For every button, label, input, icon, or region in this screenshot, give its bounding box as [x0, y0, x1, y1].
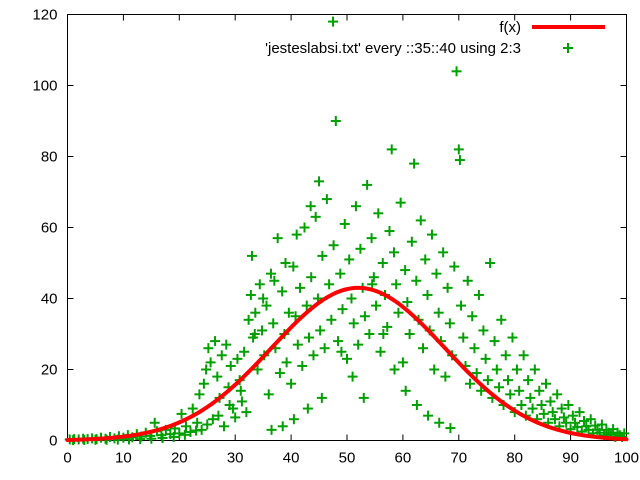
x-tick-label: 30: [227, 450, 244, 467]
chart-background: [0, 0, 640, 480]
y-tick-label: 120: [32, 7, 57, 24]
x-tick-label: 90: [562, 450, 579, 467]
x-tick-label: 10: [115, 450, 132, 467]
y-tick-label: 20: [41, 362, 58, 379]
x-tick-label: 80: [506, 450, 523, 467]
y-tick-label: 80: [41, 149, 58, 166]
x-tick-label: 20: [171, 450, 188, 467]
plot-root: 020406080100120 0102030405060708090100 f…: [0, 0, 640, 480]
y-tick-label: 0: [49, 433, 57, 450]
y-tick-label: 60: [41, 220, 58, 237]
x-tick-label: 70: [450, 450, 467, 467]
y-tick-label: 100: [32, 78, 57, 95]
x-tick-label: 60: [395, 450, 412, 467]
gnuplot-chart: 020406080100120 0102030405060708090100 f…: [0, 0, 640, 480]
y-tick-label: 40: [41, 291, 58, 308]
x-tick-label: 100: [614, 450, 639, 467]
legend-entry-fx-label: f(x): [499, 19, 521, 36]
x-tick-label: 50: [339, 450, 356, 467]
x-tick-label: 40: [283, 450, 300, 467]
legend-entry-data-label: 'jesteslabsi.txt' every ::35::40 using 2…: [265, 40, 521, 57]
x-tick-label: 0: [63, 450, 71, 467]
